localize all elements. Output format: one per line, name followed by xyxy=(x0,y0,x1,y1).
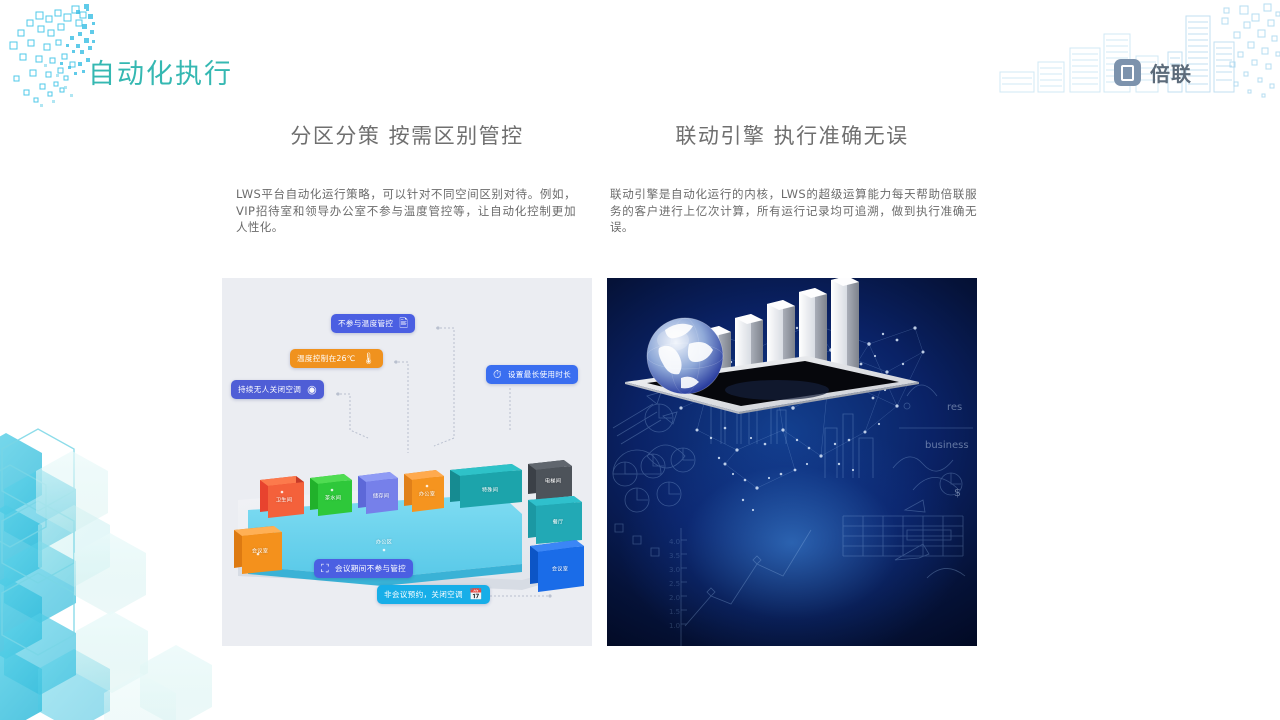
column-body: 联动引擎是自动化运行的内核，LWS的超级运算能力每天帮助倍联服务的客户进行上亿次… xyxy=(607,186,977,236)
callout-unattended-off[interactable]: 持续无人关闭空调 ◉ xyxy=(231,380,324,399)
room-label-pantry: 茶水间 xyxy=(325,495,341,502)
room-label-restroom: 卫生间 xyxy=(276,497,292,504)
callout-label: 会议期间不参与管控 xyxy=(335,565,406,573)
room-label-office: 办公室 xyxy=(419,491,435,498)
callout-meeting-exempt[interactable]: ⛶ 会议期间不参与管控 xyxy=(314,559,413,578)
floorplan-panel: 卫生间 茶水间 储存间 办公室 特殊间 电梯间 餐厅 会议室 办公区 会议室 不… xyxy=(222,278,592,646)
svg-text:$: $ xyxy=(954,486,961,499)
room-label-special: 特殊间 xyxy=(482,487,498,494)
rounded-square-logo-icon xyxy=(1114,59,1141,86)
brand-logo: 倍联 xyxy=(1114,58,1192,87)
brand-name: 倍联 xyxy=(1150,58,1192,87)
column-zoning: 分区分策 按需区别管控 LWS平台自动化运行策略，可以针对不同空间区别对待。例如… xyxy=(222,120,592,236)
meeting-icon: ⛶ xyxy=(321,563,329,574)
callout-temp-26[interactable]: 温度控制在26℃ 🌡 xyxy=(290,349,383,368)
column-linkage: 联动引擎 执行准确无误 联动引擎是自动化运行的内核，LWS的超级运算能力每天帮助… xyxy=(607,120,977,236)
thermometer-icon: 🌡 xyxy=(362,353,376,364)
room-label-storage: 储存间 xyxy=(373,493,389,500)
document-icon: 🖹 xyxy=(399,318,408,329)
room-label-canteen: 餐厅 xyxy=(553,519,564,526)
svg-text:1.0: 1.0 xyxy=(669,622,680,630)
cityscape-decoration xyxy=(990,0,1280,105)
svg-text:1.5: 1.5 xyxy=(669,608,680,616)
svg-text:res: res xyxy=(947,402,962,413)
column-body: LWS平台自动化运行策略，可以针对不同空间区别对待。例如，VIP招待室和领导办公… xyxy=(222,186,592,236)
room-label-elevator: 电梯间 xyxy=(545,478,561,485)
callout-max-duration[interactable]: ⏱ 设置最长使用时长 xyxy=(486,365,578,384)
callout-label: 非会议预约，关闭空调 xyxy=(384,591,463,599)
callout-label: 持续无人关闭空调 xyxy=(238,386,301,394)
callout-no-booking-off[interactable]: 非会议预约，关闭空调 📅 xyxy=(377,585,490,604)
calendar-icon: 📅 xyxy=(469,589,483,600)
column-heading: 联动引擎 执行准确无误 xyxy=(607,120,977,150)
svg-text:4.0: 4.0 xyxy=(669,538,680,546)
callout-no-temp-control[interactable]: 不参与温度管控 🖹 xyxy=(331,314,415,333)
room-label-meeting-room: 会议室 xyxy=(552,566,568,573)
dataviz-panel: 4.03.5 3.02.5 2.01.5 1.0 xyxy=(607,278,977,646)
svg-text:3.5: 3.5 xyxy=(669,552,680,560)
svg-text:2.0: 2.0 xyxy=(669,594,680,602)
callout-label: 不参与温度管控 xyxy=(338,320,393,328)
page-title: 自动化执行 xyxy=(88,52,233,91)
svg-text:3.0: 3.0 xyxy=(669,566,680,574)
room-label-open-office: 办公区 xyxy=(376,539,392,546)
callout-label: 设置最长使用时长 xyxy=(508,371,571,379)
sensor-icon: ◉ xyxy=(307,384,317,395)
callout-label: 温度控制在26℃ xyxy=(297,355,356,363)
dataviz-illustration: 4.03.5 3.02.5 2.01.5 1.0 xyxy=(607,278,977,646)
slide-root: 自动化执行 倍联 分区分策 按需区别管控 LWS平台自动化运行策略，可以针对不同… xyxy=(0,0,1280,720)
column-heading: 分区分策 按需区别管控 xyxy=(222,120,592,150)
tablet-chart-graphic xyxy=(607,278,929,414)
svg-text:business: business xyxy=(925,440,969,451)
floorplan-illustration: 卫生间 茶水间 储存间 办公室 特殊间 电梯间 餐厅 会议室 办公区 会议室 不… xyxy=(222,278,592,646)
hexagon-decoration xyxy=(0,375,215,720)
svg-text:2.5: 2.5 xyxy=(669,580,680,588)
timer-icon: ⏱ xyxy=(493,369,502,380)
room-label-meeting-room-2: 会议室 xyxy=(252,548,268,555)
